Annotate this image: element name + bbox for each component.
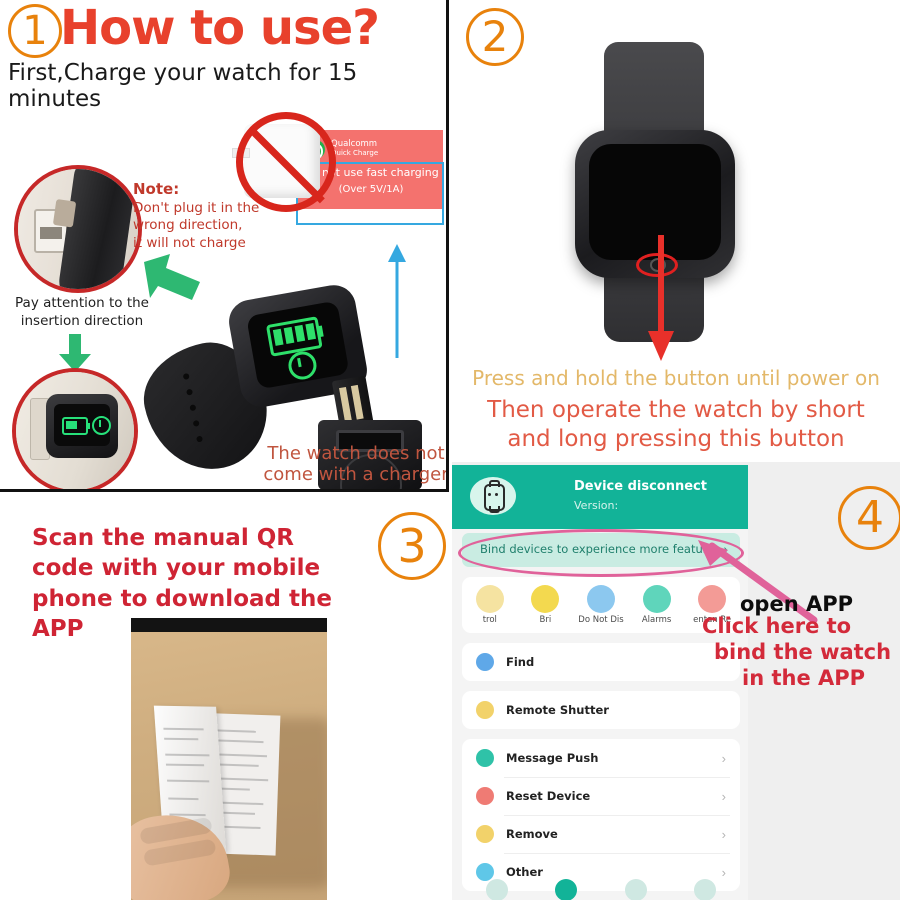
- watch-screen: [246, 301, 349, 390]
- quick-action-label: Do Not Dis: [573, 615, 629, 625]
- instruction-poster: 1 How to use? First,Charge your watch fo…: [0, 0, 900, 900]
- quick-action-item[interactable]: Alarms: [629, 585, 685, 625]
- operate-line-2: and long pressing this button: [507, 426, 844, 452]
- list-item-label: Remote Shutter: [506, 703, 609, 717]
- step-number-2: 2: [466, 8, 524, 66]
- bottom-tab-bar: [462, 873, 740, 900]
- list-group-settings: Message Push › Reset Device › Remove › O…: [462, 739, 740, 891]
- open-app-text: open APP: [740, 592, 853, 616]
- chevron-right-icon: ›: [722, 751, 726, 766]
- chevron-right-icon: ›: [722, 827, 726, 842]
- no-fast-charging-warning: Qualcomm Quick Charge Do not use fast ch…: [240, 118, 445, 248]
- watch-screen: [54, 404, 110, 446]
- tab-item[interactable]: [671, 879, 741, 900]
- do-not-disturb-icon: [587, 585, 615, 613]
- photo-wrong-insertion: [14, 165, 142, 293]
- panel-power-on: 2 Press and hold the button until power …: [452, 0, 900, 462]
- list-item[interactable]: Message Push ›: [462, 739, 740, 777]
- watch-charging: [46, 394, 118, 458]
- message-push-icon: [476, 749, 494, 767]
- click-line-1: Click here to: [702, 614, 851, 638]
- brightness-icon: [531, 585, 559, 613]
- reset-device-icon: [476, 787, 494, 805]
- operate-line-1: Then operate the watch by short: [487, 397, 865, 423]
- quick-action-item[interactable]: Do Not Dis: [573, 585, 629, 625]
- watch-avatar-icon: [470, 477, 516, 515]
- quick-action-label: Bri: [518, 615, 574, 625]
- list-item[interactable]: Remove ›: [462, 815, 740, 853]
- quick-charge-label: Quick Charge: [331, 150, 378, 158]
- device-status-label: Device disconnect: [574, 479, 707, 494]
- panel-how-to-use: 1 How to use? First,Charge your watch fo…: [0, 0, 449, 492]
- click-line-3: in the APP: [702, 666, 865, 690]
- no-charger-included-text: The watch does not come with a charger: [262, 444, 449, 485]
- brightness-icon: [476, 585, 504, 613]
- camera-icon: [476, 701, 494, 719]
- click-line-2: bind the watch: [702, 640, 891, 664]
- scan-line-2: code with your mobile: [32, 555, 320, 581]
- note-line-3: it will not charge: [133, 235, 246, 251]
- insertion-direction-text: Pay attention to the insertion direction: [12, 295, 152, 330]
- step-number-3: 3: [378, 512, 446, 580]
- operate-watch-text: Then operate the watch by short and long…: [452, 396, 900, 455]
- panel-open-app: Device disconnect Version: Bind devices …: [452, 462, 900, 900]
- battery-icon: [62, 417, 88, 435]
- device-version-label: Version:: [574, 499, 618, 512]
- list-group-remote-shutter: Remote Shutter: [462, 691, 740, 729]
- alarms-icon: [643, 585, 671, 613]
- list-item-label: Remove: [506, 827, 558, 841]
- power-icon: [286, 349, 318, 381]
- find-icon: [476, 653, 494, 671]
- no-charger-line-2: come with a charger: [263, 464, 448, 485]
- chevron-right-icon: ›: [722, 789, 726, 804]
- list-item-label: Message Push: [506, 751, 598, 765]
- app-device-header: Device disconnect Version:: [452, 465, 748, 529]
- battery-full-icon: [266, 316, 323, 357]
- note-line-2: wrong direction,: [133, 217, 242, 233]
- list-group-find: Find: [462, 643, 740, 681]
- tab-item[interactable]: [532, 879, 602, 900]
- press-hold-text: Press and hold the button until power on: [452, 366, 900, 390]
- power-icon: [92, 416, 111, 435]
- step-number-4: 4: [838, 486, 900, 550]
- step-number-1: 1: [8, 4, 62, 58]
- list-item[interactable]: Reset Device ›: [462, 777, 740, 815]
- quick-action-label: trol: [462, 615, 518, 625]
- prohibition-icon: [236, 112, 336, 212]
- list-item-label: Find: [506, 655, 534, 669]
- list-item[interactable]: Find: [462, 643, 740, 681]
- red-arrow-down-icon: [648, 235, 674, 363]
- list-item[interactable]: Remote Shutter: [462, 691, 740, 729]
- quick-action-item[interactable]: Bri: [518, 585, 574, 625]
- page-title: How to use?: [60, 0, 379, 56]
- tab-item[interactable]: [601, 879, 671, 900]
- photo-correct-insertion: [12, 368, 138, 492]
- no-charger-line-1: The watch does not: [267, 443, 444, 464]
- quick-action-label: Alarms: [629, 615, 685, 625]
- photo-manual-leaflet: [131, 618, 327, 900]
- remove-icon: [476, 825, 494, 843]
- click-here-instruction: Click here to bind the watch in the APP: [702, 614, 900, 691]
- scan-line-1: Scan the manual QR: [32, 525, 294, 551]
- list-item-label: Reset Device: [506, 789, 590, 803]
- green-arrow-down-icon: [58, 334, 92, 372]
- tab-item[interactable]: [462, 879, 532, 900]
- table-edge: [131, 618, 327, 632]
- charge-subtitle: First,Charge your watch for 15 minutes: [8, 60, 446, 112]
- quick-action-item[interactable]: trol: [462, 585, 518, 625]
